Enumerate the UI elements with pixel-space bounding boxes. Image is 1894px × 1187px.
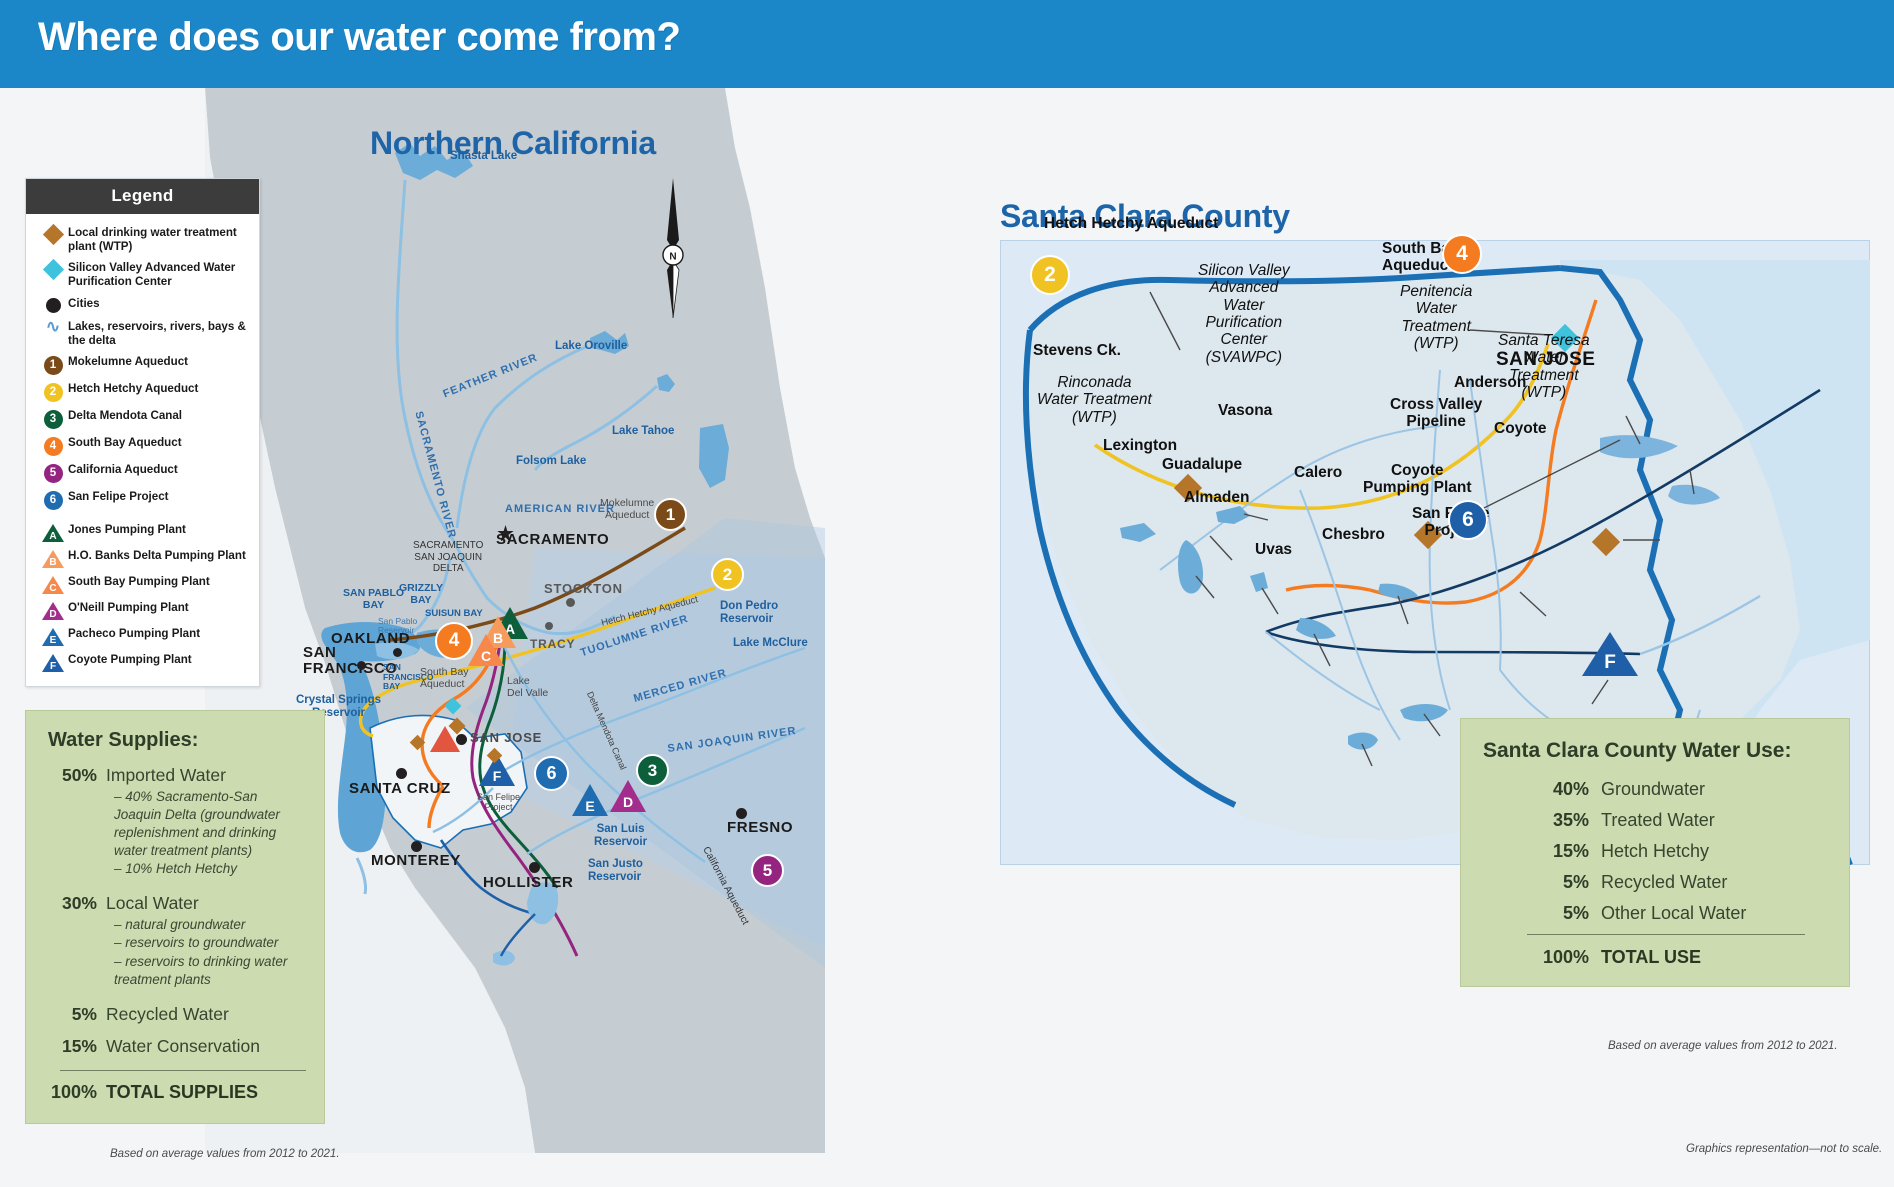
legend-item-california-aqueduct: 5 California Aqueduct <box>38 463 249 483</box>
label-fresno: FRESNO <box>727 819 793 836</box>
number-badge-icon: 5 <box>38 463 68 483</box>
use-pct: 15% <box>1483 841 1601 862</box>
legend-item-local-wtp: Local drinking water treatment plant (WT… <box>38 226 249 254</box>
label-san-jose-nocal: SAN JOSE <box>470 730 542 745</box>
supply-total-pct: 100% <box>48 1082 106 1103</box>
label-rinconada-wtp: Rinconada Water Treatment (WTP) <box>1037 374 1152 426</box>
legend-label: Pacheco Pumping Plant <box>68 627 200 641</box>
legend-label: Cities <box>68 297 100 311</box>
label-lake-oroville: Lake Oroville <box>555 340 627 352</box>
water-supplies-footnote: Based on average values from 2012 to 202… <box>110 1148 340 1160</box>
san-francisco-dot <box>357 661 366 670</box>
legend-label: Jones Pumping Plant <box>68 523 186 537</box>
marker-pacheco-pumping-plant-e: E <box>570 782 610 818</box>
label-south-bay-aqueduct: South Bay Aqueduct <box>420 667 468 691</box>
label-scc-hetch-hetchy-aqueduct: Hetch Hetchy Aqueduct <box>1044 215 1218 233</box>
legend-label: South Bay Aqueduct <box>68 436 182 450</box>
legend-body: Local drinking water treatment plant (WT… <box>26 214 259 686</box>
svg-text:C: C <box>481 648 491 664</box>
label-san-pablo-bay: SAN PABLO BAY <box>343 588 404 611</box>
scc-badge-south-bay-aqueduct-4: 4 <box>1442 234 1482 274</box>
triangle-icon: E <box>38 627 68 646</box>
supply-pct: 15% <box>48 1036 106 1057</box>
label-san-luis-reservoir: San Luis Reservoir <box>594 823 647 848</box>
legend-label: Lakes, reservoirs, rivers, bays & the de… <box>68 320 249 348</box>
label-american-river: AMERICAN RIVER <box>505 503 615 515</box>
use-row-total: 100% TOTAL USE <box>1483 947 1827 968</box>
legend-item-water-bodies: ∿ Lakes, reservoirs, rivers, bays & the … <box>38 320 249 348</box>
triangle-icon: C <box>38 575 68 594</box>
hollister-dot <box>529 862 540 873</box>
label-chesbro: Chesbro <box>1322 526 1385 544</box>
triangle-icon: A <box>38 523 68 542</box>
use-label: Hetch Hetchy <box>1601 841 1709 862</box>
svg-text:N: N <box>669 252 676 263</box>
page-title: Where does our water come from? <box>38 15 680 60</box>
svg-text:F: F <box>1604 652 1616 673</box>
supply-row-total: 100% TOTAL SUPPLIES <box>48 1082 306 1103</box>
legend-item-delta-mendota-canal: 3 Delta Mendota Canal <box>38 409 249 429</box>
number-badge-icon: 2 <box>38 382 68 402</box>
label-santa-cruz: SANTA CRUZ <box>349 780 451 797</box>
label-shasta-lake: Shasta Lake <box>450 150 517 162</box>
legend-item-pacheco-pumping-plant: E Pacheco Pumping Plant <box>38 627 249 646</box>
legend-item-hetch-hetchy-aqueduct: 2 Hetch Hetchy Aqueduct <box>38 382 249 402</box>
svg-text:F: F <box>493 768 502 784</box>
legend-label: O'Neill Pumping Plant <box>68 601 189 615</box>
supply-subitem: – reservoirs to drinking water treatment… <box>114 953 306 989</box>
legend-item-jones-pumping-plant: A Jones Pumping Plant <box>38 523 249 542</box>
legend-label: Silicon Valley Advanced Water Purificati… <box>68 261 249 289</box>
label-anderson: Anderson <box>1454 374 1526 392</box>
santa-cruz-dot <box>396 768 407 779</box>
scc-water-use-title: Santa Clara County Water Use: <box>1483 739 1827 763</box>
legend-label: Coyote Pumping Plant <box>68 653 192 667</box>
supplies-divider <box>60 1070 306 1071</box>
supply-total-label: TOTAL SUPPLIES <box>106 1082 258 1103</box>
use-row-recycled: 5% Recycled Water <box>1483 872 1827 893</box>
label-penitencia-wtp: Penitencia Water Treatment (WTP) <box>1400 283 1472 352</box>
tracy-dot <box>545 622 553 630</box>
svg-text:E: E <box>585 798 594 814</box>
supply-row-local: 30% Local Water <box>48 893 306 914</box>
label-san-felipe-project-nocal: San Felipe Project <box>477 793 520 813</box>
scc-badge-hetch-hetchy-2: 2 <box>1030 255 1070 295</box>
legend-item-coyote-pumping-plant: F Coyote Pumping Plant <box>38 653 249 672</box>
label-suisun-bay: SUISUN BAY <box>425 608 483 619</box>
scc-water-use-footnote: Based on average values from 2012 to 202… <box>1608 1040 1838 1052</box>
legend-label: Local drinking water treatment plant (WT… <box>68 226 249 254</box>
supply-label: Local Water <box>106 893 199 914</box>
number-badge-icon: 1 <box>38 355 68 375</box>
use-row-other-local: 5% Other Local Water <box>1483 903 1827 924</box>
badge-mokelumne-aqueduct-1: 1 <box>654 498 687 531</box>
label-scc-san-jose: SAN JOSE <box>1496 349 1595 371</box>
label-vasona: Vasona <box>1218 402 1272 420</box>
label-almaden: Almaden <box>1184 489 1249 507</box>
label-sacramento: SACRAMENTO <box>496 531 609 548</box>
supply-pct: 30% <box>48 893 106 914</box>
legend-item-south-bay-aqueduct: 4 South Bay Aqueduct <box>38 436 249 456</box>
label-don-pedro-reservoir: Don Pedro Reservoir <box>720 600 778 625</box>
infographic-page: Where does our water come from? <box>0 0 1894 1187</box>
triangle-icon: D <box>38 601 68 620</box>
legend-heading: Legend <box>26 179 259 214</box>
compass-rose: N <box>655 178 691 318</box>
water-supplies-panel: Water Supplies: 50% Imported Water – 40%… <box>25 710 325 1124</box>
legend-label: Mokelumne Aqueduct <box>68 355 188 369</box>
supply-row-conservation: 15% Water Conservation <box>48 1036 306 1057</box>
label-stockton: STOCKTON <box>544 581 623 596</box>
triangle-icon: B <box>38 549 68 568</box>
supply-label: Water Conservation <box>106 1036 260 1057</box>
label-mokelumne-aqueduct: Mokelumne Aqueduct <box>600 498 654 522</box>
label-san-justo-reservoir: San Justo Reservoir <box>588 858 643 883</box>
label-cross-valley-pipeline: Cross Valley Pipeline <box>1390 396 1482 431</box>
legend: Legend Local drinking water treatment pl… <box>25 178 260 687</box>
label-coyote: Coyote <box>1494 420 1547 438</box>
legend-item-south-bay-pumping-plant: C South Bay Pumping Plant <box>38 575 249 594</box>
supply-pct: 5% <box>48 1004 106 1025</box>
label-lake-mcclure: Lake McClure <box>733 637 808 649</box>
legend-item-mokelumne-aqueduct: 1 Mokelumne Aqueduct <box>38 355 249 375</box>
svg-text:D: D <box>623 794 633 810</box>
supply-subitem: – natural groundwater <box>114 916 306 934</box>
supply-row-imported: 50% Imported Water <box>48 765 306 786</box>
number-badge-icon: 4 <box>38 436 68 456</box>
use-divider <box>1527 934 1805 935</box>
page-header: Where does our water come from? <box>0 0 1894 88</box>
use-pct: 35% <box>1483 810 1601 831</box>
legend-label: H.O. Banks Delta Pumping Plant <box>68 549 246 563</box>
label-lake-del-valle: Lake Del Valle <box>507 676 548 700</box>
use-label: Treated Water <box>1601 810 1715 831</box>
label-calero: Calero <box>1294 464 1342 482</box>
monterey-dot <box>411 841 422 852</box>
use-pct: 40% <box>1483 779 1601 800</box>
wave-icon: ∿ <box>38 320 68 333</box>
legend-item-svawpc: Silicon Valley Advanced Water Purificati… <box>38 261 249 289</box>
use-row-groundwater: 40% Groundwater <box>1483 779 1827 800</box>
marker-south-bay-pumping-plant-c: C <box>466 632 506 668</box>
badge-san-felipe-project-6: 6 <box>534 756 569 791</box>
legend-label: Hetch Hetchy Aqueduct <box>68 382 198 396</box>
supply-subitem: – 40% Sacramento-San Joaquin Delta (grou… <box>114 788 306 860</box>
badge-california-aqueduct-5: 5 <box>751 854 784 887</box>
label-folsom-lake: Folsom Lake <box>516 455 586 467</box>
legend-label: San Felipe Project <box>68 490 169 504</box>
supply-label: Recycled Water <box>106 1004 229 1025</box>
supply-subitem: – 10% Hetch Hetchy <box>114 860 306 878</box>
label-lexington: Lexington <box>1103 437 1177 455</box>
label-delta: SACRAMENTO SAN JOAQUIN DELTA <box>413 540 483 575</box>
supply-pct: 50% <box>48 765 106 786</box>
supply-row-recycled: 5% Recycled Water <box>48 1004 306 1025</box>
triangle-icon: F <box>38 653 68 672</box>
scc-badge-san-felipe-6: 6 <box>1448 500 1488 540</box>
badge-hetch-hetchy-aqueduct-2: 2 <box>711 558 744 591</box>
legend-label: South Bay Pumping Plant <box>68 575 210 589</box>
scc-water-use-panel: Santa Clara County Water Use: 40% Ground… <box>1460 718 1850 987</box>
label-uvas: Uvas <box>1255 541 1292 559</box>
label-svawpc: Silicon Valley Advanced Water Purificati… <box>1198 262 1290 366</box>
stockton-dot <box>566 598 575 607</box>
use-total-pct: 100% <box>1483 947 1601 968</box>
diamond-icon <box>38 261 68 277</box>
legend-label: California Aqueduct <box>68 463 178 477</box>
label-tracy: TRACY <box>530 637 575 651</box>
supply-subitem: – reservoirs to groundwater <box>114 934 306 952</box>
water-supplies-title: Water Supplies: <box>48 729 306 752</box>
global-footnote: Graphics representation—not to scale. <box>1686 1143 1882 1155</box>
use-label: Groundwater <box>1601 779 1705 800</box>
diamond-icon <box>38 226 68 242</box>
legend-item-cities: Cities <box>38 297 249 313</box>
label-hollister: HOLLISTER <box>483 874 573 891</box>
use-total-label: TOTAL USE <box>1601 947 1701 968</box>
supply-label: Imported Water <box>106 765 226 786</box>
number-badge-icon: 3 <box>38 409 68 429</box>
legend-label: Delta Mendota Canal <box>68 409 182 423</box>
fresno-dot <box>736 808 747 819</box>
use-label: Other Local Water <box>1601 903 1746 924</box>
legend-item-san-felipe-project: 6 San Felipe Project <box>38 490 249 510</box>
circle-icon <box>38 297 68 313</box>
legend-item-ho-banks-pumping-plant: B H.O. Banks Delta Pumping Plant <box>38 549 249 568</box>
label-lake-tahoe: Lake Tahoe <box>612 425 674 437</box>
use-pct: 5% <box>1483 872 1601 893</box>
use-row-treated: 35% Treated Water <box>1483 810 1827 831</box>
label-stevens-ck: Stevens Ck. <box>1033 342 1121 360</box>
label-monterey: MONTEREY <box>371 852 461 869</box>
use-row-hetch-hetchy: 15% Hetch Hetchy <box>1483 841 1827 862</box>
legend-item-oneill-pumping-plant: D O'Neill Pumping Plant <box>38 601 249 620</box>
label-coyote-pumping-plant: Coyote Pumping Plant <box>1363 462 1472 497</box>
use-pct: 5% <box>1483 903 1601 924</box>
label-grizzly-bay: GRIZZLY BAY <box>399 583 443 606</box>
supply-sublist-imported: – 40% Sacramento-San Joaquin Delta (grou… <box>114 788 306 878</box>
use-label: Recycled Water <box>1601 872 1727 893</box>
supply-sublist-local: – natural groundwater – reservoirs to gr… <box>114 916 306 988</box>
label-guadalupe: Guadalupe <box>1162 456 1242 474</box>
marker-oneill-pumping-plant-d: D <box>608 778 648 814</box>
number-badge-icon: 6 <box>38 490 68 510</box>
